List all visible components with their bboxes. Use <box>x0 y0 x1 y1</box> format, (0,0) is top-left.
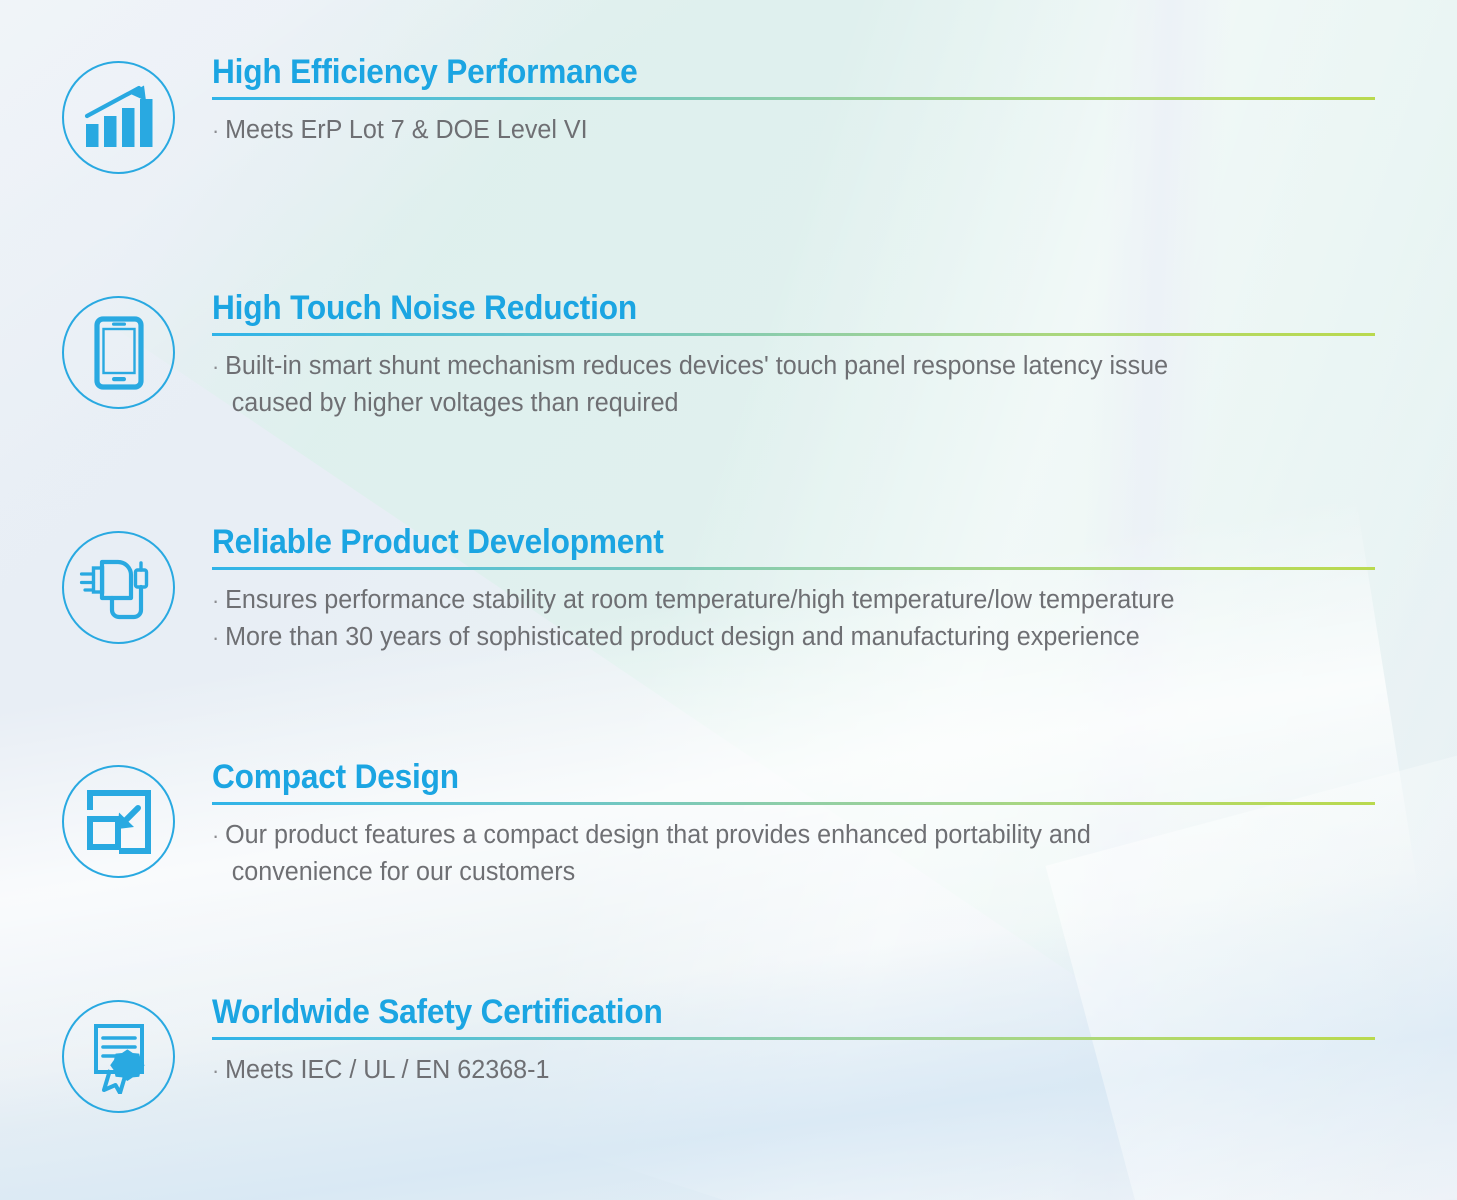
bar-chart-growth-icon <box>82 83 156 153</box>
feature-icon-circle <box>62 531 175 644</box>
certificate-award-icon <box>84 1020 154 1094</box>
feature-divider <box>212 1037 1375 1040</box>
feature-bullet-line: ·More than 30 years of sophisticated pro… <box>212 619 1359 656</box>
feature-title: Worldwide Safety Certification <box>212 992 1295 1032</box>
feature-body: High Efficiency Performance·Meets ErP Lo… <box>212 52 1376 149</box>
feature-divider <box>212 97 1375 100</box>
bullet-marker: · <box>212 588 225 613</box>
feature-icon-circle <box>62 61 175 174</box>
feature-description: ·Meets IEC / UL / EN 62368-1 <box>212 1052 1376 1089</box>
feature-line-text: Meets ErP Lot 7 & DOE Level VI <box>225 116 588 144</box>
compact-resize-icon <box>86 789 152 855</box>
feature-description: ·Our product features a compact design t… <box>212 817 1376 890</box>
bullet-marker: · <box>212 823 225 848</box>
feature-description: ·Meets ErP Lot 7 & DOE Level VI <box>212 112 1376 149</box>
feature-description: ·Built-in smart shunt mechanism reduces … <box>212 348 1376 421</box>
smartphone-icon <box>94 316 144 390</box>
bullet-marker: · <box>212 625 225 650</box>
feature-line-text: Built-in smart shunt mechanism reduces d… <box>225 352 1168 380</box>
bullet-marker: · <box>212 354 225 379</box>
feature-divider <box>212 802 1375 805</box>
feature-line-text: caused by higher voltages than required <box>232 389 679 417</box>
feature-line-text: Our product features a compact design th… <box>225 821 1091 849</box>
feature-title: Reliable Product Development <box>212 522 1295 562</box>
feature-bullet-line: ·Meets ErP Lot 7 & DOE Level VI <box>212 112 1359 149</box>
feature-line-text: convenience for our customers <box>232 858 575 886</box>
feature-body: Reliable Product Development·Ensures per… <box>212 522 1376 656</box>
feature-line-text: Ensures performance stability at room te… <box>225 586 1174 614</box>
feature-line-text: Meets IEC / UL / EN 62368-1 <box>225 1056 549 1084</box>
feature-bullet-line: ·Meets IEC / UL / EN 62368-1 <box>212 1052 1359 1089</box>
feature-bullet-line: ·Built-in smart shunt mechanism reduces … <box>212 348 1359 385</box>
feature-title: Compact Design <box>212 757 1295 797</box>
bullet-marker: · <box>212 1058 225 1083</box>
feature-divider <box>212 567 1375 570</box>
feature-body: Worldwide Safety Certification·Meets IEC… <box>212 992 1376 1089</box>
feature-bullet-line: convenience for our customers <box>212 854 1359 890</box>
feature-icon-circle <box>62 765 175 878</box>
feature-icon-circle <box>62 1000 175 1113</box>
feature-line-text: More than 30 years of sophisticated prod… <box>225 623 1140 651</box>
feature-title: High Efficiency Performance <box>212 52 1295 92</box>
feature-bullet-line: ·Ensures performance stability at room t… <box>212 582 1359 619</box>
feature-bullet-line: caused by higher voltages than required <box>212 385 1359 421</box>
feature-divider <box>212 333 1375 336</box>
feature-bullet-line: ·Our product features a compact design t… <box>212 817 1359 854</box>
feature-icon-circle <box>62 296 175 409</box>
feature-title: High Touch Noise Reduction <box>212 288 1295 328</box>
feature-body: High Touch Noise Reduction·Built-in smar… <box>212 288 1376 421</box>
feature-list: High Efficiency Performance·Meets ErP Lo… <box>0 0 1457 1200</box>
feature-body: Compact Design·Our product features a co… <box>212 757 1376 890</box>
power-adapter-icon <box>78 554 160 622</box>
feature-description: ·Ensures performance stability at room t… <box>212 582 1376 656</box>
bullet-marker: · <box>212 118 225 143</box>
